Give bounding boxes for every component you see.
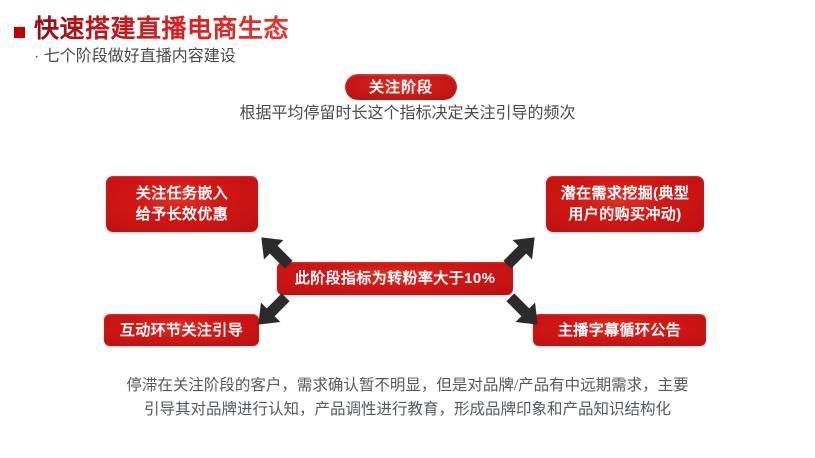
- slide-canvas: 快速搭建直播电商生态 · 七个阶段做好直播内容建设 关注阶段 根据平均停留时长这…: [0, 0, 815, 458]
- arrow-down-left-icon: [249, 288, 295, 334]
- node-potential-demand: 潜在需求挖掘(典型 用户的购买冲动): [546, 176, 704, 232]
- node-attention-task: 关注任务嵌入 给予长效优惠: [106, 176, 258, 232]
- footer-note: 停滞在关注阶段的客户，需求确认暂不明显，但是对品牌/产品有中远期需求，主要 引导…: [0, 374, 815, 422]
- node-potential-demand-label: 潜在需求挖掘(典型 用户的购买冲动): [561, 183, 690, 225]
- node-stage-metric: 此阶段指标为转粉率大于10%: [277, 262, 513, 295]
- node-interaction-guide: 互动环节关注引导: [104, 314, 259, 346]
- node-host-subtitle-label: 主播字幕循环公告: [558, 320, 681, 341]
- arrow-up-right-icon: [498, 228, 544, 274]
- arrow-up-left-icon: [252, 228, 298, 274]
- footer-note-line-1: 停滞在关注阶段的客户，需求确认暂不明显，但是对品牌/产品有中远期需求，主要: [0, 374, 815, 398]
- node-host-subtitle: 主播字幕循环公告: [533, 314, 706, 346]
- node-attention-task-label: 关注任务嵌入 给予长效优惠: [136, 183, 228, 225]
- footer-note-line-2: 引导其对品牌进行认知，产品调性进行教育，形成品牌印象和产品知识结构化: [0, 398, 815, 422]
- node-stage-metric-label: 此阶段指标为转粉率大于10%: [295, 268, 496, 289]
- arrow-down-right-icon: [501, 288, 547, 334]
- node-interaction-guide-label: 互动环节关注引导: [120, 320, 243, 341]
